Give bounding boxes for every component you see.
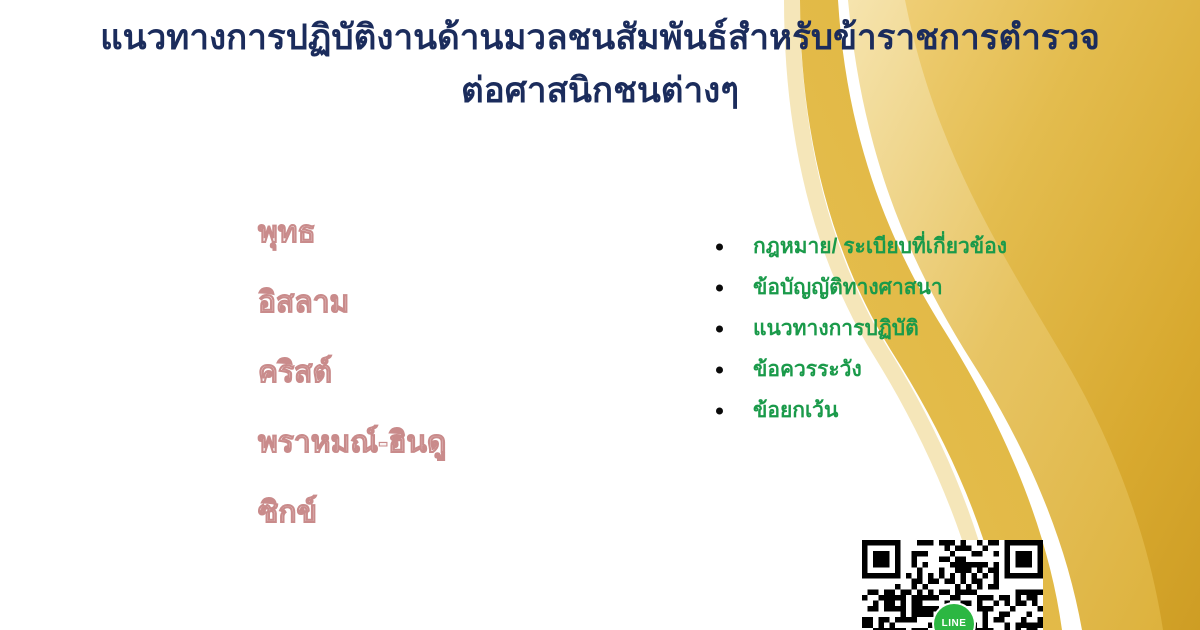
- topic-item-exceptions: ข้อยกเว้น: [712, 390, 1007, 431]
- topic-label: ข้อยกเว้น: [753, 394, 838, 427]
- topic-item-religious-precepts: ข้อบัญญัติทางศาสนา: [712, 267, 1007, 308]
- bullet-dot-icon: [716, 366, 723, 373]
- bullet-dot-icon: [716, 407, 723, 414]
- religion-item-buddhism: พุทธ: [258, 218, 446, 288]
- line-logo-label: LINE: [942, 619, 967, 629]
- religion-item-islam: อิสลาม: [258, 288, 446, 358]
- topic-label: ข้อบัญญัติทางศาสนา: [753, 271, 943, 304]
- title-line-2: ต่อศาสนิกชนต่างๆ: [0, 67, 1200, 114]
- religion-item-brahmin-hindu: พราหมณ์-ฮินดู: [258, 428, 446, 498]
- topic-item-laws: กฎหมาย/ ระเบียบที่เกี่ยวข้อง: [712, 226, 1007, 267]
- topic-label: แนวทางการปฏิบัติ: [753, 312, 919, 345]
- topic-list: กฎหมาย/ ระเบียบที่เกี่ยวข้อง ข้อบัญญัติท…: [712, 226, 1007, 431]
- topic-label: กฎหมาย/ ระเบียบที่เกี่ยวข้อง: [753, 230, 1007, 263]
- topic-item-cautions: ข้อควรระวัง: [712, 349, 1007, 390]
- bullet-dot-icon: [716, 325, 723, 332]
- religion-item-sikh: ซิกข์: [258, 498, 446, 568]
- bullet-dot-icon: [716, 243, 723, 250]
- religion-item-christian: คริสต์: [258, 358, 446, 428]
- presentation-slide: แนวทางการปฏิบัติงานด้านมวลชนสัมพันธ์สำหร…: [0, 0, 1200, 630]
- topic-item-guidelines: แนวทางการปฏิบัติ: [712, 308, 1007, 349]
- religion-list: พุทธ อิสลาม คริสต์ พราหมณ์-ฮินดู ซิกข์: [258, 218, 446, 568]
- slide-title: แนวทางการปฏิบัติงานด้านมวลชนสัมพันธ์สำหร…: [0, 14, 1200, 115]
- title-line-1: แนวทางการปฏิบัติงานด้านมวลชนสัมพันธ์สำหร…: [0, 14, 1200, 61]
- topic-label: ข้อควรระวัง: [753, 353, 862, 386]
- line-qr-code[interactable]: LINE: [862, 540, 1043, 630]
- bullet-dot-icon: [716, 284, 723, 291]
